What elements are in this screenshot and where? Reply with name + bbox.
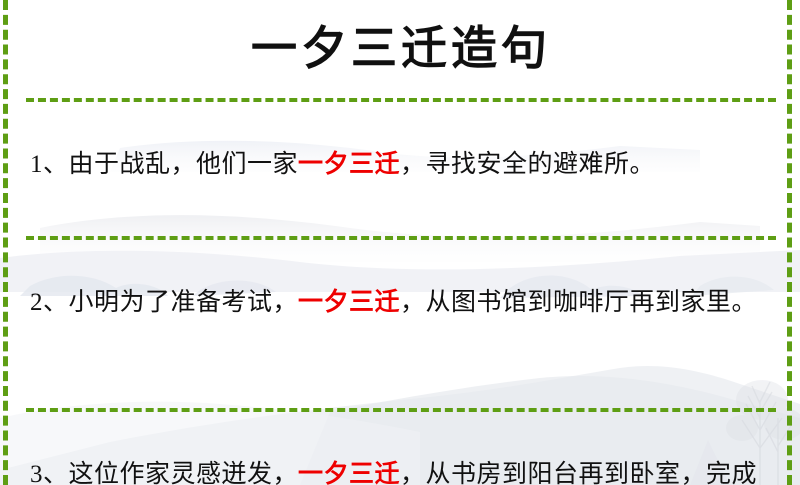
sentence-1-index: 1、 <box>30 151 69 178</box>
page-frame-left-edge <box>3 0 8 485</box>
document-content: 一夕三迁造句 1、由于战乱，他们一家一夕三迁，寻找安全的避难所。 2、小明为了准… <box>0 0 800 485</box>
sentence-2-index: 2、 <box>30 289 69 316</box>
title-block: 一夕三迁造句 <box>24 0 778 98</box>
sentence-2-idiom-highlight: 一夕三迁 <box>298 289 400 316</box>
divider-3 <box>26 408 776 412</box>
sentence-item-2: 2、小明为了准备考试，一夕三迁，从图书馆到咖啡厅再到家里。 <box>24 265 778 383</box>
sentence-item-3: 3、这位作家灵感迸发，一夕三迁，从书房到阳台再到卧室，完成了整篇文章。 <box>24 437 778 485</box>
sentence-1-text-before: 由于战乱，他们一家 <box>69 151 299 178</box>
sentence-1-text-after: ，寻找安全的避难所。 <box>400 151 655 178</box>
sentence-2-text-after: ，从图书馆到咖啡厅再到家里。 <box>400 289 757 316</box>
page-title: 一夕三迁造句 <box>251 26 551 72</box>
sentence-1-idiom-highlight: 一夕三迁 <box>298 151 400 178</box>
sentence-3-text-before: 这位作家灵感迸发， <box>69 461 299 485</box>
page-root: 一夕三迁造句 1、由于战乱，他们一家一夕三迁，寻找安全的避难所。 2、小明为了准… <box>0 0 800 485</box>
sentence-item-1: 1、由于战乱，他们一家一夕三迁，寻找安全的避难所。 <box>24 127 778 211</box>
divider-2 <box>26 236 776 240</box>
sentence-3-index: 3、 <box>30 461 69 485</box>
page-frame-right-edge <box>787 0 792 485</box>
sentence-2-text-before: 小明为了准备考试， <box>69 289 299 316</box>
sentence-3-idiom-highlight: 一夕三迁 <box>298 461 400 485</box>
divider-1 <box>26 98 776 102</box>
